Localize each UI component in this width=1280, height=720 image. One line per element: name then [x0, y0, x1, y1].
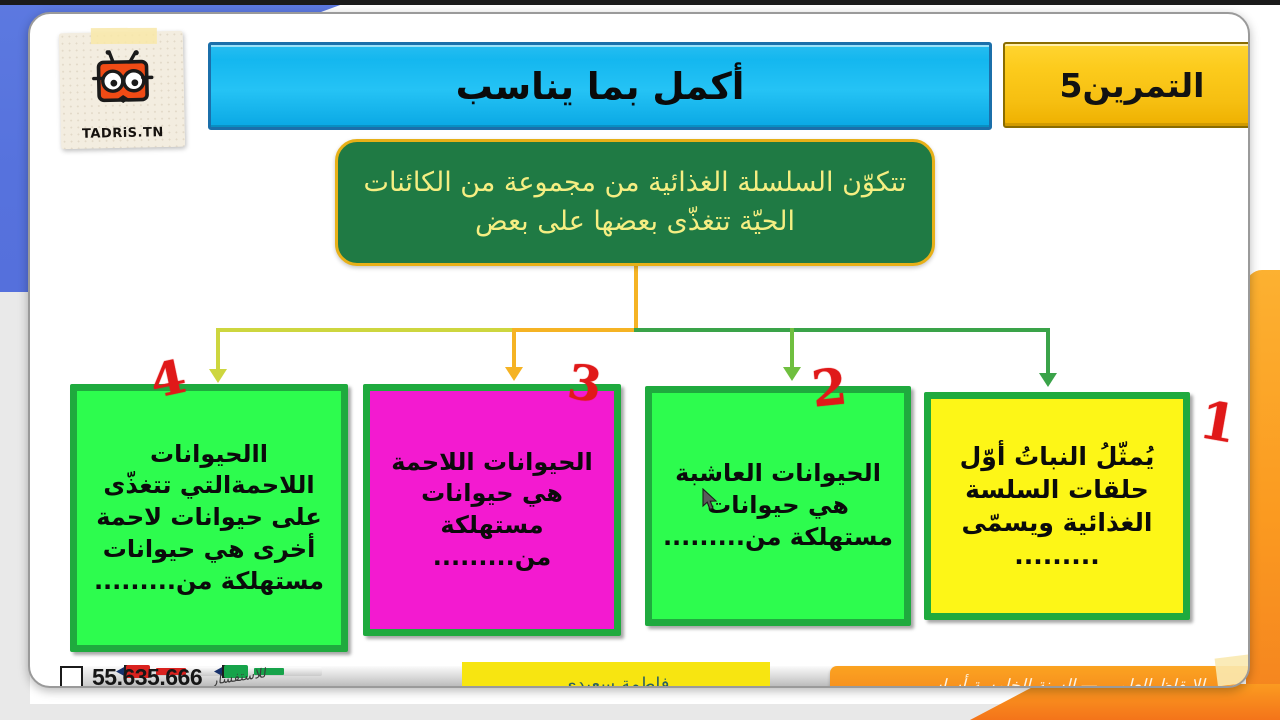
answer-box-herbivore[interactable]: الحيوانات العاشبة هي حيوانات مستهلكة من.…: [645, 386, 911, 626]
tape-strip: [91, 28, 157, 44]
arrowhead-2-icon: [505, 367, 523, 381]
checkbox-icon[interactable]: [60, 666, 83, 688]
definition-statement-box: تتكوّن السلسلة الغذائية من مجموعة من الك…: [335, 139, 935, 266]
author-name: فاطمة سعيدي: [563, 674, 670, 689]
right-orange-band: [1246, 270, 1280, 720]
logo-caption: TADRiS.TN: [61, 125, 185, 143]
exercise-number-text: التمرين5: [1060, 66, 1205, 105]
subject-banner: الإيقاظ العلمي — السنة الخامسة أساسي: [830, 666, 1250, 688]
annotation-number-2: 2: [809, 356, 850, 418]
connector-trunk-vertical: [634, 266, 638, 330]
answer-box-text: الحيوانات العاشبة هي حيوانات مستهلكة من.…: [660, 458, 896, 553]
exercise-number-box: التمرين5: [1003, 42, 1250, 128]
answer-box-carnivore-secondary[interactable]: االحيوانات اللاحمةالتي تتغذّى على حيوانا…: [70, 384, 348, 652]
subject-text: الإيقاظ العلمي — السنة الخامسة أساسي: [913, 676, 1205, 688]
screen-background: TADRiS.TN أكمل بما يناسب التمرين5 تتكوّن…: [0, 0, 1280, 720]
arrowhead-4-icon: [1039, 373, 1057, 387]
connector-branch-1: [216, 328, 220, 372]
connector-horizontal-middle: [512, 328, 636, 332]
annotation-number-1: 1: [1195, 389, 1241, 455]
answer-box-text: الحيوانات اللاحمة هي حيوانات مستهلكة من.…: [378, 447, 606, 574]
connector-branch-4: [1046, 328, 1050, 376]
robot-mascot-icon: [83, 49, 162, 113]
left-gray-band: [0, 292, 30, 720]
subject-tape-strip: [1215, 650, 1250, 687]
answer-box-text: االحيوانات اللاحمةالتي تتغذّى على حيوانا…: [85, 439, 333, 597]
contact-phone-number: 55.635.666: [92, 664, 202, 688]
connector-horizontal-right: [634, 328, 1050, 332]
contact-row: 55.635.666 للاستفسار: [60, 664, 266, 688]
answer-box-text: يُمثّلُ النباتُ أوّل حلقات السلسة الغذائ…: [939, 440, 1175, 572]
answer-box-plant[interactable]: يُمثّلُ النباتُ أوّل حلقات السلسة الغذائ…: [924, 392, 1190, 620]
mouse-cursor-icon: [702, 488, 719, 512]
connector-branch-2: [512, 328, 516, 370]
top-dark-strip: [0, 0, 1280, 5]
author-banner: فاطمة سعيدي: [462, 662, 770, 688]
definition-statement-text: تتكوّن السلسلة الغذائية من مجموعة من الك…: [354, 164, 916, 241]
lesson-title-box: أكمل بما يناسب: [208, 42, 992, 130]
tadris-logo-note: TADRiS.TN: [59, 31, 185, 150]
connector-branch-3: [790, 328, 794, 370]
lesson-title-text: أكمل بما يناسب: [456, 65, 745, 108]
arrowhead-1-icon: [209, 369, 227, 383]
answer-box-carnivore[interactable]: الحيوانات اللاحمة هي حيوانات مستهلكة من.…: [363, 384, 621, 636]
contact-note: للاستفسار: [210, 666, 267, 688]
bottom-orange-wedge: [970, 684, 1280, 720]
arrowhead-3-icon: [783, 367, 801, 381]
whiteboard-panel: TADRiS.TN أكمل بما يناسب التمرين5 تتكوّن…: [28, 12, 1250, 688]
